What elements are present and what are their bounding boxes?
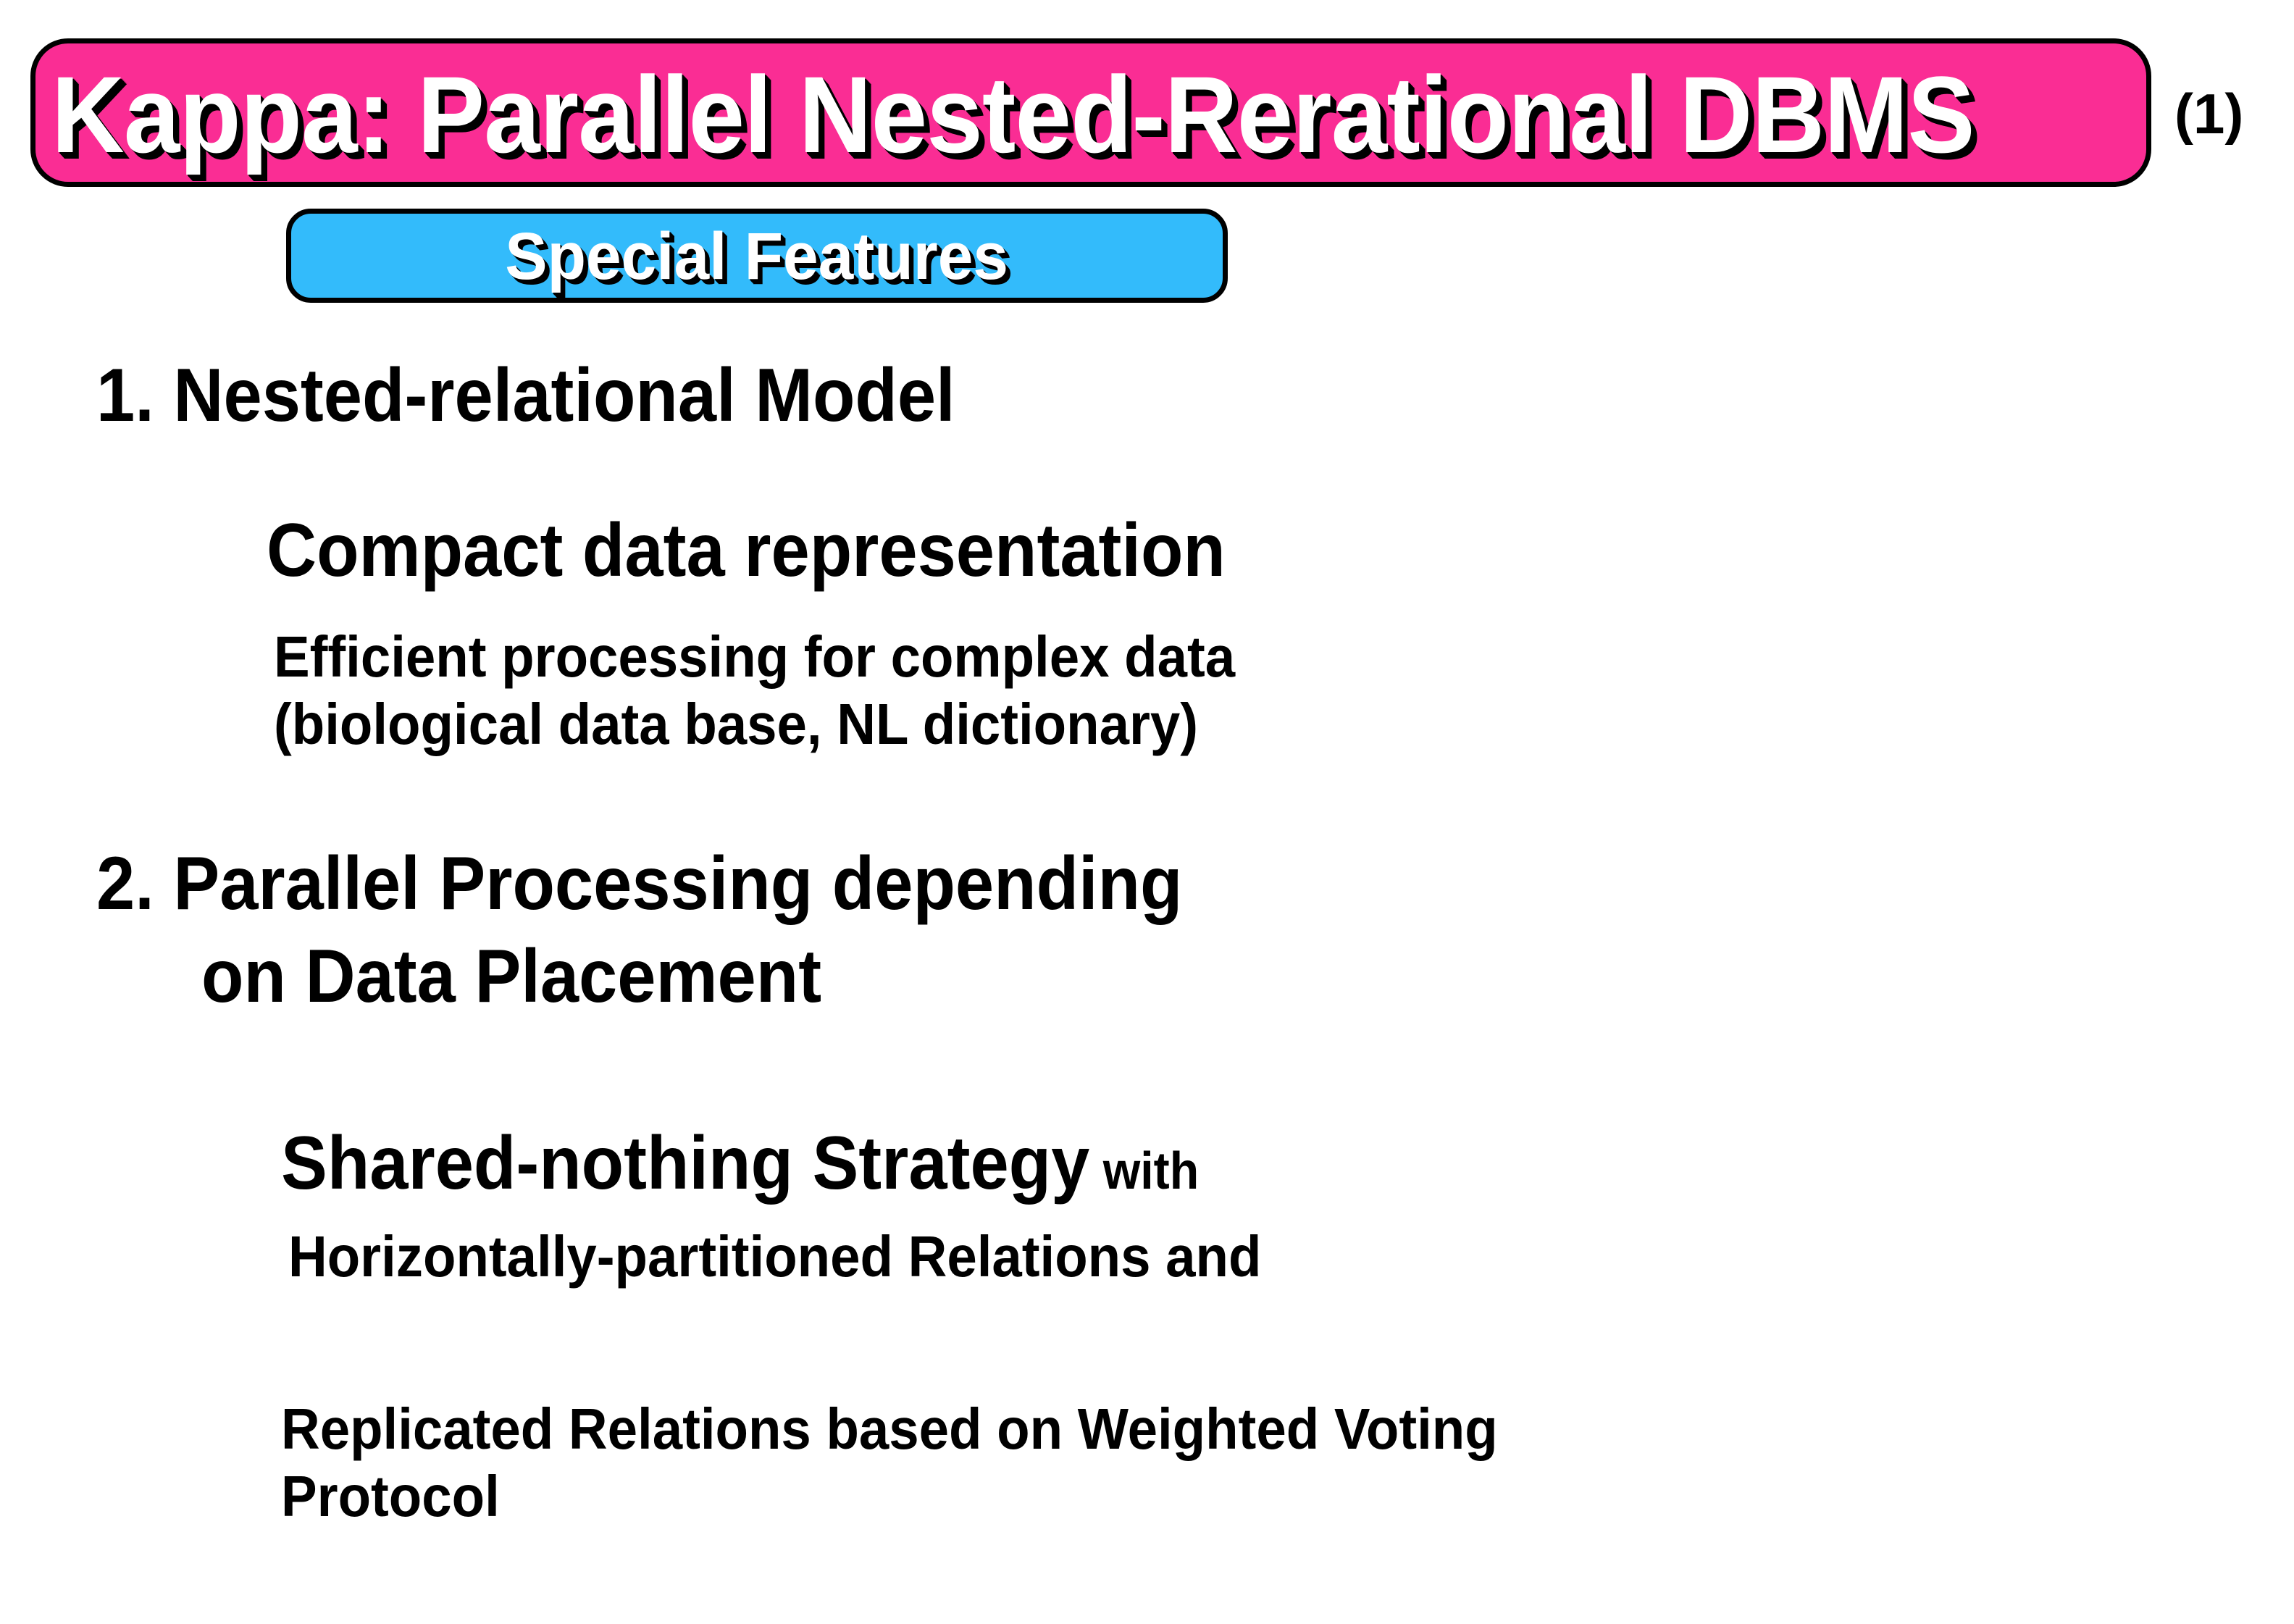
bullet-2-subpoint-main: Shared-nothing Strategy	[281, 1121, 1089, 1205]
bullet-2-heading-line-2: on Data Placement	[201, 934, 821, 1018]
bullet-1-detail-line-1: Efficient processing for complex data	[274, 624, 1235, 690]
bullet-1-subpoint: Compact data representation	[267, 508, 1226, 593]
bullet-2-detail-line-2: Replicated Relations based on Weighted V…	[281, 1397, 1498, 1462]
bullet-2-detail-line-1: Horizontally-partitioned Relations and	[288, 1224, 1261, 1289]
slide-canvas: Kappa: Parallel Nested-Rerational DBMS (…	[0, 0, 2294, 1624]
bullet-2-heading-line-1: 2. Parallel Processing depending	[96, 842, 1182, 926]
bullet-2-subpoint-suffix: with	[1089, 1142, 1199, 1200]
subtitle-badge: Special Features	[286, 209, 1228, 303]
title-slide-number: (1)	[2174, 85, 2243, 142]
title-banner: Kappa: Parallel Nested-Rerational DBMS	[30, 38, 2151, 187]
bullet-1-detail-line-2: (biological data base, NL dictionary)	[274, 692, 1198, 757]
bullet-2-detail-line-3: Protocol	[281, 1464, 500, 1529]
bullet-1-heading: 1. Nested-relational Model	[96, 353, 955, 438]
page-title: Kappa: Parallel Nested-Rerational DBMS	[51, 60, 1975, 169]
title-banner-row: Kappa: Parallel Nested-Rerational DBMS	[30, 38, 2151, 187]
bullet-2-subpoint: Shared-nothing Strategy with	[281, 1121, 1199, 1205]
subtitle-badge-label: Special Features	[506, 223, 1009, 290]
